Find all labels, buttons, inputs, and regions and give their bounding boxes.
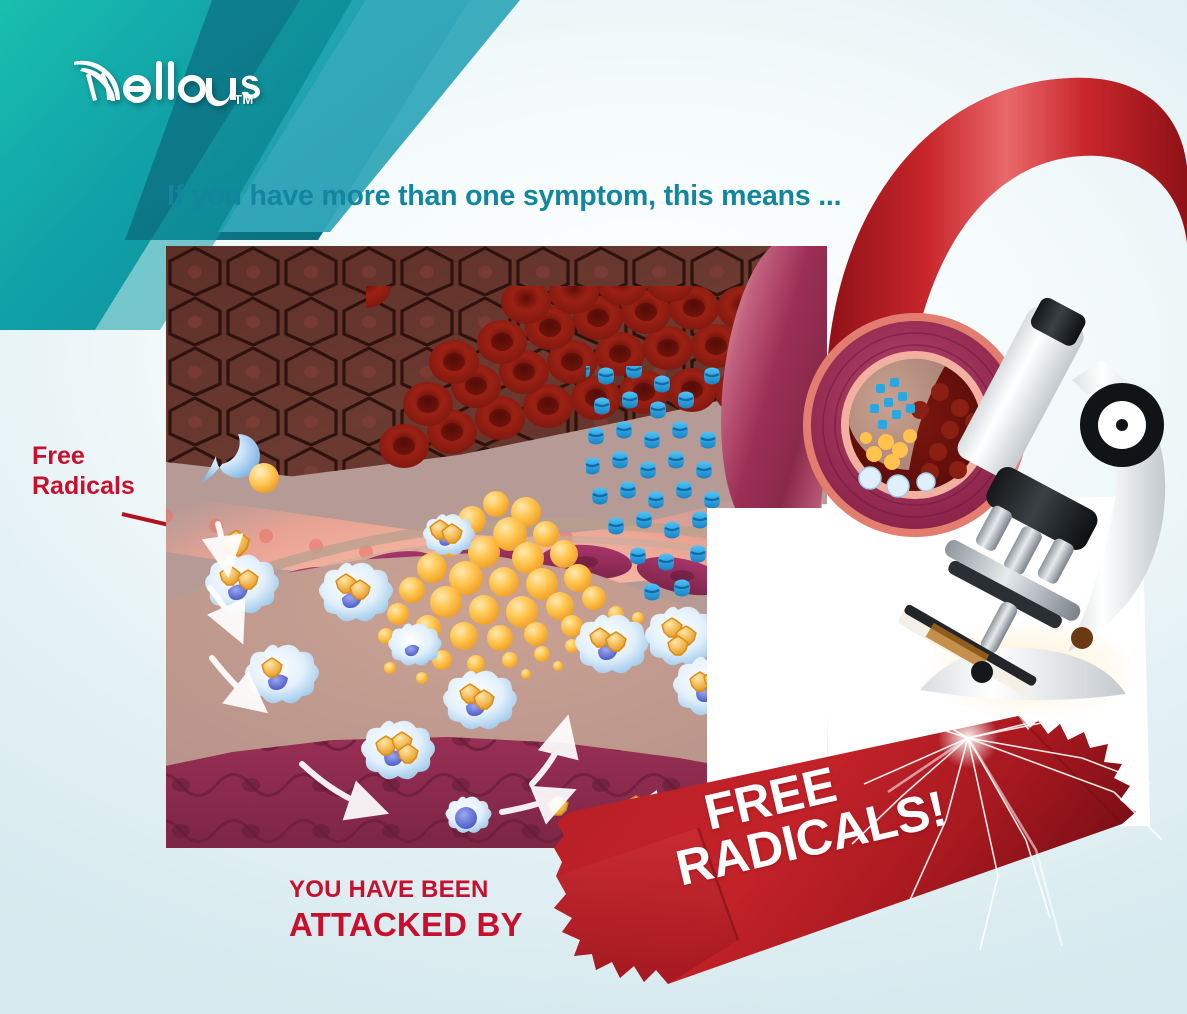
page-headline: If you have more than one symptom, this … bbox=[167, 180, 841, 213]
free-radicals-red-banner bbox=[548, 716, 1148, 1006]
wellous-logo[interactable]: TM bbox=[70, 48, 285, 110]
free-radicals-label-line1: Free bbox=[32, 442, 85, 470]
free-radicals-label: Free Radicals bbox=[32, 442, 182, 501]
caption-line2: ATTACKED BY bbox=[289, 906, 523, 944]
free-radicals-label-line2: Radicals bbox=[32, 472, 182, 502]
trademark-symbol: TM bbox=[234, 92, 254, 107]
attacked-by-caption: YOU HAVE BEEN ATTACKED BY bbox=[289, 876, 523, 944]
infographic-canvas: TM If you have more than one symptom, th… bbox=[0, 0, 1187, 1014]
microscope-icon[interactable] bbox=[860, 290, 1187, 720]
caption-line1: YOU HAVE BEEN bbox=[289, 876, 523, 904]
